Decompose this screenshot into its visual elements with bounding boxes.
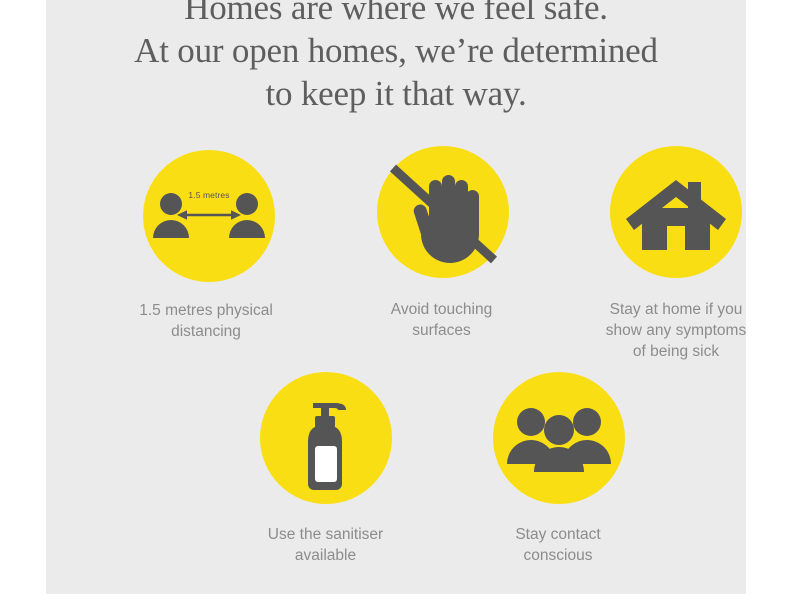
card-caption-physical-distancing: 1.5 metres physical distancing — [93, 300, 319, 342]
card-stay-contact-conscious: Stay contact conscious — [451, 372, 671, 566]
headline-line-1: Homes are where we feel safe. — [46, 0, 746, 29]
caption-line-1: 1.5 metres physical — [93, 300, 319, 321]
sanitiser-pump-bottle-icon — [260, 372, 392, 504]
two-people-distance-icon — [143, 150, 275, 282]
caption-line-2: surfaces — [327, 320, 556, 341]
page-title: Homes are where we feel safe. At our ope… — [46, 0, 746, 115]
card-physical-distancing: 1.5 metres 1.5 metres physical distancin… — [99, 150, 319, 342]
caption-line-3: of being sick — [564, 341, 746, 362]
card-caption-use-sanitiser: Use the sanitiser available — [213, 524, 438, 566]
caption-line-1: Stay contact — [445, 524, 671, 545]
caption-line-1: Stay at home if you — [564, 299, 746, 320]
caption-line-1: Use the sanitiser — [213, 524, 438, 545]
caption-line-2: conscious — [445, 545, 671, 566]
card-caption-stay-at-home: Stay at home if you show any symptoms of… — [564, 299, 746, 362]
card-avoid-touching-surfaces: Avoid touching surfaces — [336, 146, 556, 341]
icon-circle-physical-distancing: 1.5 metres — [143, 150, 275, 282]
icon-circle-stay-at-home — [610, 146, 742, 278]
headline-line-3: to keep it that way. — [46, 72, 746, 115]
caption-line-1: Avoid touching — [327, 299, 556, 320]
distance-label: 1.5 metres — [143, 190, 275, 200]
card-caption-stay-contact-conscious: Stay contact conscious — [445, 524, 671, 566]
no-touch-hand-icon — [377, 146, 509, 278]
icon-circle-avoid-touching — [377, 146, 509, 278]
infographic-poster: Homes are where we feel safe. At our ope… — [46, 0, 746, 594]
caption-line-2: show any symptoms — [564, 320, 746, 341]
headline-line-2: At our open homes, we’re determined — [46, 29, 746, 72]
icon-circle-use-sanitiser — [260, 372, 392, 504]
house-icon — [610, 146, 742, 278]
card-use-sanitiser: Use the sanitiser available — [218, 372, 438, 566]
caption-line-2: available — [213, 545, 438, 566]
three-people-group-icon — [493, 372, 625, 504]
card-caption-avoid-touching-surfaces: Avoid touching surfaces — [327, 299, 556, 341]
icon-circle-stay-contact-conscious — [493, 372, 625, 504]
caption-line-2: distancing — [93, 321, 319, 342]
card-stay-at-home: Stay at home if you show any symptoms of… — [568, 146, 746, 362]
